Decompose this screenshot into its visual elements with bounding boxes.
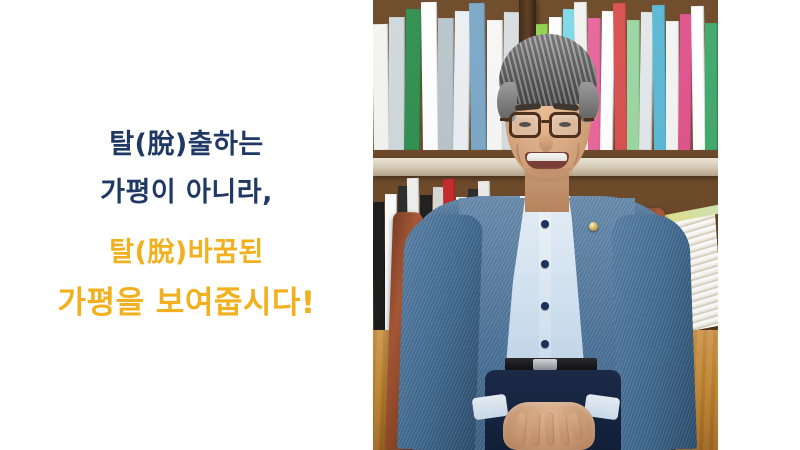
book-spine: [691, 6, 706, 150]
shirt-cuff-left: [472, 394, 509, 421]
slogan-line-2: 가평이 아니라,: [0, 170, 373, 216]
finger: [530, 412, 540, 446]
slogan-banner: 탈(脫)출하는 가평이 아니라, 탈(脫)바꿈된 가평을 보여줍시다!: [0, 0, 800, 450]
nose: [539, 132, 553, 152]
eyeglasses-bridge: [541, 120, 551, 123]
slogan-line-1: 탈(脫)출하는: [0, 122, 373, 168]
book-spine: [666, 21, 679, 150]
finger: [515, 412, 528, 447]
eyeglasses-lens-left: [509, 112, 541, 138]
book-spine: [627, 20, 640, 151]
slogan-text-panel: 탈(脫)출하는 가평이 아니라, 탈(脫)바꿈된 가평을 보여줍시다!: [0, 0, 373, 450]
shirt-button: [541, 340, 549, 348]
shirt-button: [541, 220, 549, 228]
shirt-button: [541, 302, 549, 310]
book-spine: [373, 24, 390, 150]
book-spine: [421, 1, 439, 150]
slogan-line-3: 탈(脫)바꿈된: [0, 230, 373, 276]
slogan-line-4: 가평을 보여줍시다!: [0, 278, 373, 328]
book-spine: [652, 4, 667, 150]
eyeglasses-temple-left: [500, 118, 510, 121]
book-row-top-left: [373, 0, 519, 150]
finger: [570, 411, 584, 440]
teeth: [527, 153, 567, 161]
blazer-sleeve-left: [397, 213, 483, 450]
chin-shadow: [523, 168, 573, 182]
belt-buckle: [533, 359, 557, 370]
hair-temple-right: [579, 82, 599, 122]
book-spine: [469, 3, 487, 150]
portrait-photo: [373, 0, 718, 450]
eyeglasses-lens-right: [549, 112, 581, 138]
book-spine: [705, 23, 718, 151]
blazer-sleeve-right: [611, 213, 697, 450]
book-spine: [404, 9, 422, 150]
finger: [557, 412, 570, 447]
book-spine: [438, 18, 454, 150]
shirt-button: [541, 260, 549, 268]
smiling-mouth: [525, 152, 569, 169]
eyeglasses-temple-right: [584, 118, 594, 121]
book-spine: [389, 17, 405, 151]
finger: [544, 412, 554, 446]
clasped-hands: [503, 402, 595, 450]
book-spine: [613, 3, 628, 150]
lapel-pin-badge: [589, 222, 598, 231]
